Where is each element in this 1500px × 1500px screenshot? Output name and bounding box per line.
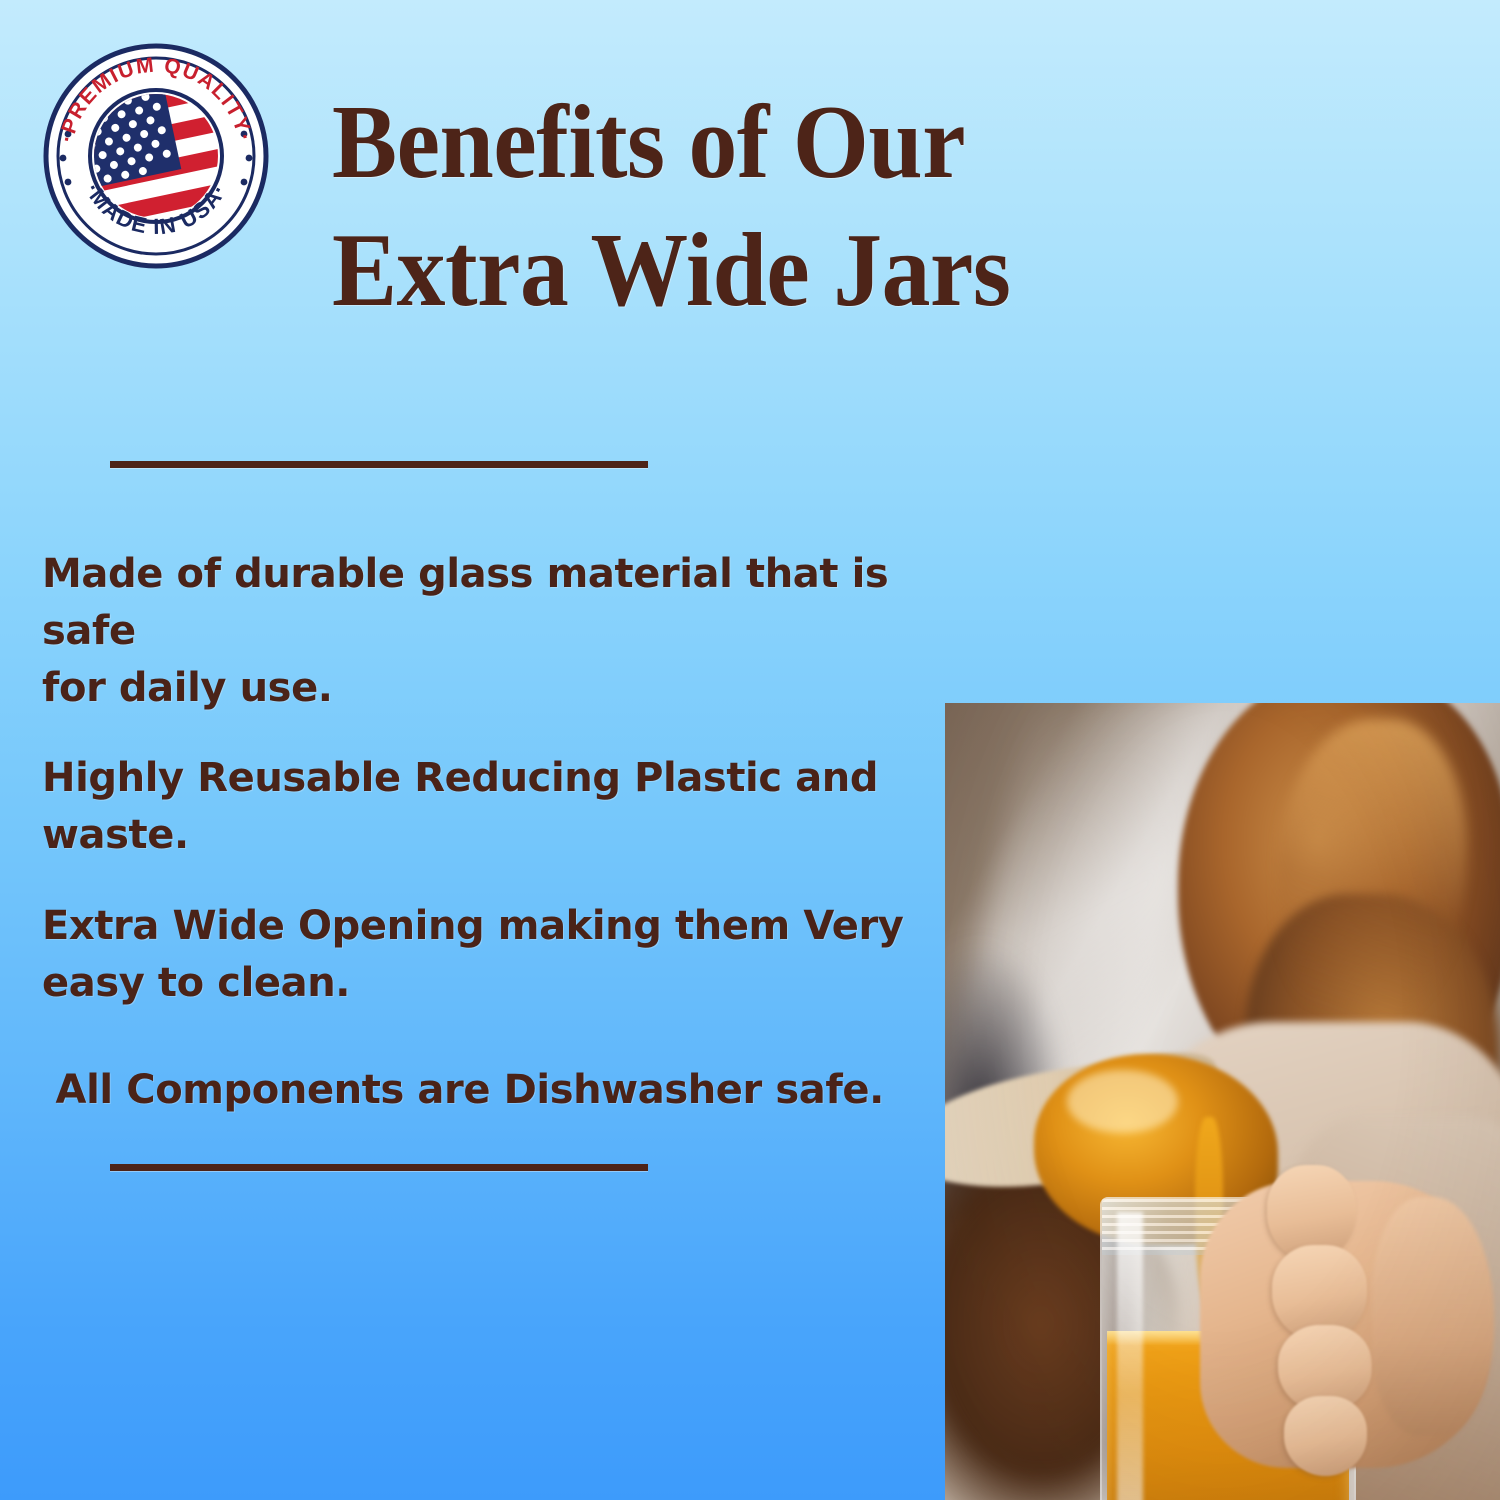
photo-scene <box>945 703 1500 1500</box>
product-benefits-infographic: ·PREMIUM QUALITY· ·MADE IN USA· Benefits… <box>0 0 1500 1500</box>
benefits-list: Made of durable glass material that is s… <box>42 546 942 1118</box>
title-line-2: Extra Wide Jars <box>332 206 1169 334</box>
lifestyle-photo <box>945 703 1500 1500</box>
benefit-item-reusable: Highly Reusable Reducing Plastic and was… <box>42 750 942 864</box>
photo-vignette <box>945 703 1500 1500</box>
benefit-item-wide-opening: Extra Wide Opening making them Very easy… <box>42 898 942 1012</box>
divider-top <box>110 461 648 468</box>
page-title: Benefits of Our Extra Wide Jars <box>332 78 1232 334</box>
benefit-item-dishwasher-safe: All Components are Dishwasher safe. <box>42 1062 942 1119</box>
divider-bottom <box>110 1164 648 1171</box>
benefit-item-durable-glass: Made of durable glass material that is s… <box>42 546 942 716</box>
made-in-usa-badge: ·PREMIUM QUALITY· ·MADE IN USA· <box>42 42 270 270</box>
title-line-1: Benefits of Our <box>332 78 1169 206</box>
